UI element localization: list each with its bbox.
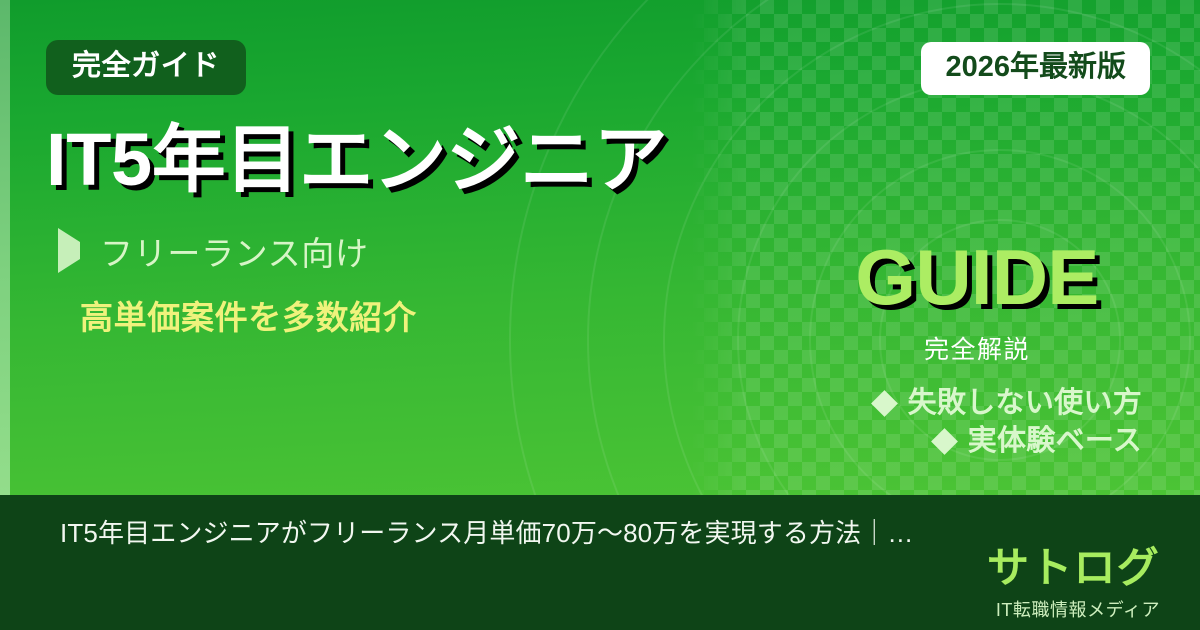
brand-logo: サトログ IT転職情報メディア (987, 547, 1160, 622)
hero-left-block: 完全ガイド IT5年目エンジニア フリーランス向け 高単価案件を多数紹介 (46, 40, 766, 339)
left-accent-bar (0, 0, 10, 495)
guide-word: GUIDE (812, 238, 1142, 316)
diamond-icon (871, 390, 898, 417)
diamond-icon (58, 307, 60, 323)
brand-name: サトログ (987, 547, 1160, 589)
diamond-icon (931, 428, 958, 455)
guide-point-list: 失敗しない使い方 実体験ベース (812, 384, 1142, 461)
list-item: 失敗しない使い方 (812, 384, 1142, 422)
year-badge: 2026年最新版 (921, 42, 1150, 95)
list-item: 実体験ベース (812, 422, 1142, 460)
hero-section: 完全ガイド IT5年目エンジニア フリーランス向け 高単価案件を多数紹介 202… (0, 0, 1200, 495)
list-item: 高単価案件を多数紹介 (58, 291, 766, 339)
triangle-right-icon (58, 243, 80, 259)
guide-subtitle: 完全解説 (812, 330, 1142, 366)
brand-tagline: IT転職情報メディア (987, 596, 1160, 622)
hero-bullet-list: フリーランス向け 高単価案件を多数紹介 (46, 227, 766, 339)
hero-bullet-label: フリーランス向け (100, 227, 369, 275)
eyebrow-badge: 完全ガイド (46, 40, 246, 95)
page-title: IT5年目エンジニア (46, 121, 766, 199)
footer-bar: IT5年目エンジニアがフリーランス月単価70万〜80万を実現する方法｜… サトロ… (0, 495, 1200, 630)
guide-block: GUIDE 完全解説 失敗しない使い方 実体験ベース (812, 238, 1142, 461)
ogp-card: 完全ガイド IT5年目エンジニア フリーランス向け 高単価案件を多数紹介 202… (0, 0, 1200, 630)
hero-bullet-label: 高単価案件を多数紹介 (80, 291, 417, 339)
list-item: フリーランス向け (58, 227, 766, 275)
article-title: IT5年目エンジニアがフリーランス月単価70万〜80万を実現する方法｜… (60, 513, 914, 550)
guide-point-label: 実体験ベース (968, 422, 1142, 460)
guide-point-label: 失敗しない使い方 (908, 384, 1142, 422)
